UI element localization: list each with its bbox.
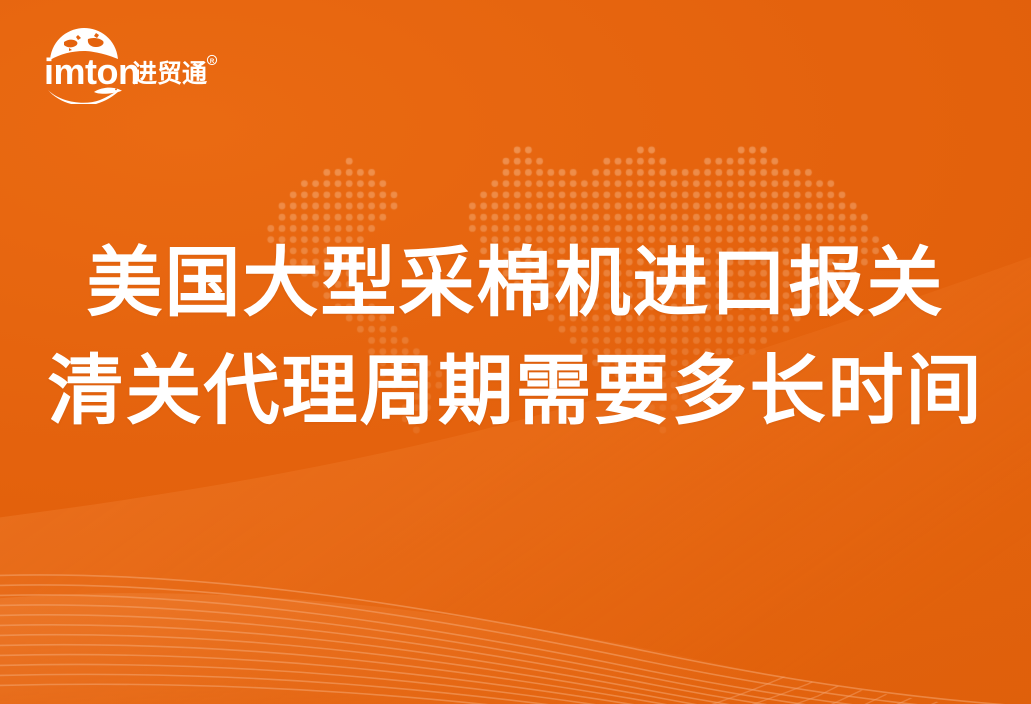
svg-text:进贸通: 进贸通 [132, 60, 207, 88]
headline-block: 美国大型采棉机进口报关 清关代理周期需要多长时间 [0, 246, 1031, 430]
registered-trademark-icon: R [207, 55, 216, 65]
svg-text:R: R [210, 59, 215, 65]
promo-banner: imton 进贸通 R 美国大型采棉机进口报关 清关代理周期需要多长时间 [0, 0, 1031, 704]
wordmark-imton: imton [44, 51, 139, 92]
globe-swoosh-logo: imton 进贸通 R [40, 26, 230, 104]
svg-text:imton: imton [44, 51, 139, 92]
headline-line-1: 美国大型采棉机进口报关 [0, 246, 1031, 322]
headline-line-2: 清关代理周期需要多长时间 [0, 354, 1031, 430]
brand-logo[interactable]: imton 进贸通 R [40, 26, 230, 104]
wordmark-jinmaotong: 进贸通 [132, 60, 207, 88]
